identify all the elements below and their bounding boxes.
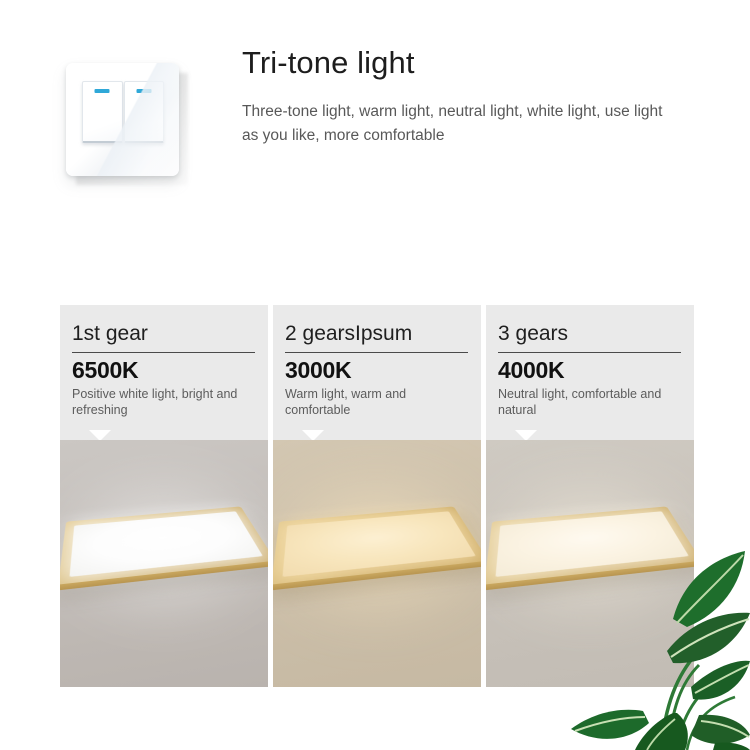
hero-section: Tri-tone light Three-tone light, warm li…	[0, 0, 750, 290]
ceiling-light-cool-white-photo	[60, 440, 268, 687]
gear-panel-2-header: 2 gearsIpsum 3000K Warm light, warm and …	[273, 305, 481, 440]
gear-panel-1: 1st gear 6500K Positive white light, bri…	[60, 305, 268, 687]
gear-panel-3-kelvin: 4000K	[498, 357, 682, 384]
gear-panel-2: 2 gearsIpsum 3000K Warm light, warm and …	[273, 305, 481, 687]
switch-rocker-right	[124, 81, 165, 143]
gear-panel-2-title: 2 gearsIpsum	[285, 321, 469, 346]
gear-panel-1-kelvin: 6500K	[72, 357, 256, 384]
ceiling-light-neutral-white-photo	[486, 440, 694, 687]
switch-rocker-left	[82, 81, 123, 143]
gear-panel-2-description: Warm light, warm and comfortable	[285, 386, 469, 418]
gear-panel-1-divider	[72, 352, 255, 353]
switch-indicator-right-icon	[136, 89, 151, 93]
gear-panel-1-title: 1st gear	[72, 321, 256, 346]
gear-panel-3: 3 gears 4000K Neutral light, comfortable…	[486, 305, 694, 687]
ceiling-light-warm-white-photo	[273, 440, 481, 687]
gear-panel-group: 1st gear 6500K Positive white light, bri…	[60, 305, 695, 687]
page-title: Tri-tone light	[242, 44, 712, 82]
gear-panel-3-description: Neutral light, comfortable and natural	[498, 386, 682, 418]
switch-rocker-group	[82, 81, 164, 143]
gear-panel-3-divider	[498, 352, 681, 353]
gear-panel-2-divider	[285, 352, 468, 353]
wall-switch-icon	[60, 57, 190, 187]
gear-panel-2-kelvin: 3000K	[285, 357, 469, 384]
page-subtitle: Three-tone light, warm light, neutral li…	[242, 100, 672, 148]
gear-panel-3-title: 3 gears	[498, 321, 682, 346]
gear-panel-3-header: 3 gears 4000K Neutral light, comfortable…	[486, 305, 694, 440]
hero-text-block: Tri-tone light Three-tone light, warm li…	[242, 44, 712, 148]
switch-plate	[66, 63, 179, 176]
switch-indicator-left-icon	[95, 89, 110, 93]
gear-panel-1-header: 1st gear 6500K Positive white light, bri…	[60, 305, 268, 440]
gear-panel-1-description: Positive white light, bright and refresh…	[72, 386, 256, 418]
